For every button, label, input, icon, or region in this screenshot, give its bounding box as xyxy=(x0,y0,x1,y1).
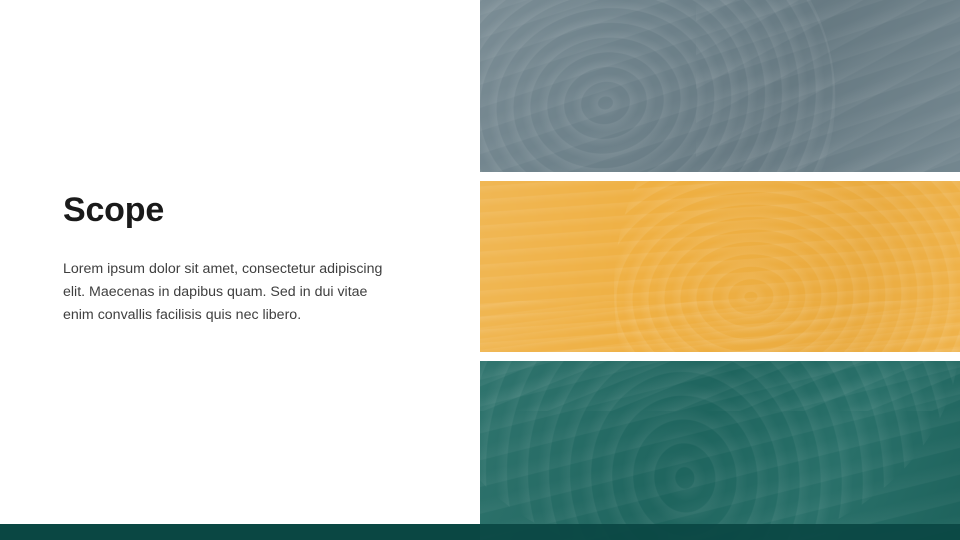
slide: Scope Lorem ipsum dolor sit amet, consec… xyxy=(0,0,960,540)
feature-card-2[interactable]: ✔ Insert Heading Lorem ipsum dolor sit a… xyxy=(480,181,960,352)
footer-bar-right xyxy=(480,524,960,540)
card-2-inner: ✔ Insert Heading Lorem ipsum dolor sit a… xyxy=(480,181,960,352)
left-panel: Scope Lorem ipsum dolor sit amet, consec… xyxy=(0,0,480,540)
feature-card-1[interactable]: ✔ Insert Heading Lorem ipsum dolor sit a… xyxy=(480,0,960,172)
card-1-texture-layer-c xyxy=(480,0,960,172)
page-title: Scope xyxy=(63,192,164,229)
page-body-text: Lorem ipsum dolor sit amet, consectetur … xyxy=(63,258,393,327)
card-3-inner: ✔ Insert Heading Lorem ipsum dolor sit a… xyxy=(480,361,960,540)
card-2-texture-layer-c xyxy=(480,181,960,352)
footer-bar xyxy=(0,524,480,540)
card-1-inner: ✔ Insert Heading Lorem ipsum dolor sit a… xyxy=(480,0,960,172)
feature-card-3[interactable]: ✔ Insert Heading Lorem ipsum dolor sit a… xyxy=(480,361,960,540)
card-3-texture-layer-c xyxy=(480,361,960,540)
